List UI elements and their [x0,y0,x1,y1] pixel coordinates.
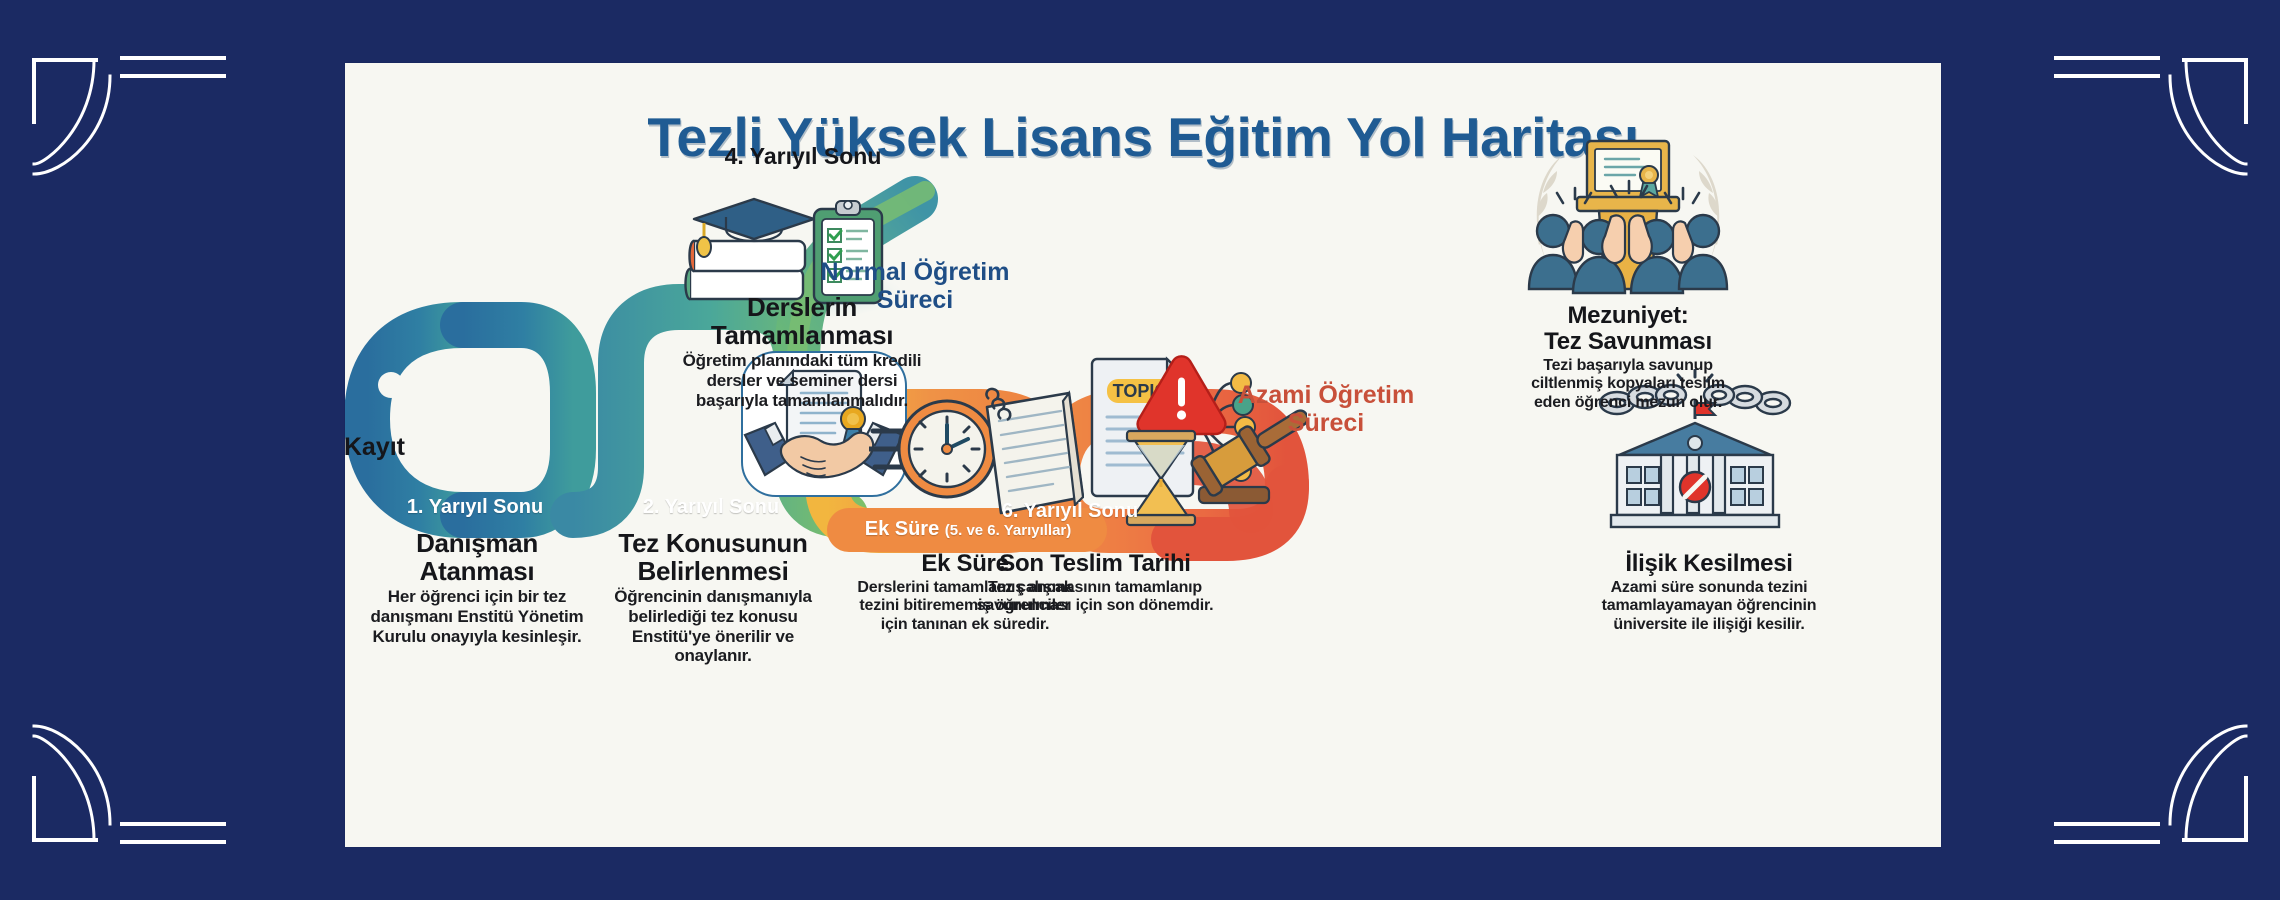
step-heading-line2: Atanması [420,556,535,586]
corner-decoration-top-left [10,14,310,274]
step-heading-ilisik-kesilmesi: İlişik Kesilmesi [1593,551,1825,577]
outcome-heading-line2: Tez Savunması [1544,328,1712,355]
process-group-label-normal-line1: Normal Öğretim [785,258,1045,286]
step-block-danisman-atanmasi: Danışman Atanması Her öğrenci için bir t… [361,529,593,646]
step-heading-line2: Tamamlanması [711,320,893,350]
step-description-danisman-atanmasi: Her öğrenci için bir tez danışmanı Ensti… [361,587,593,646]
step-heading-danisman-atanmasi: Danışman Atanması [361,529,593,585]
semester-badge-4: 4. Yarıyıl Sonu [693,143,913,170]
outcome-heading: Mezuniyet: Tez Savunması [1513,303,1743,355]
step-description-son-teslim-tarihi: Tez çalışmasının tamamlanıp savunulması … [965,579,1225,616]
step-heading-line1: Danışman [416,528,538,558]
infographic-card: Tezli Yüksek Lisans Eğitim Yol Haritası [345,63,1941,847]
step-heading-line1: Derslerin [747,292,857,322]
corner-decoration-bottom-left [10,626,310,886]
step-block-son-teslim-tarihi: Son Teslim Tarihi Tez çalışmasının tamam… [965,551,1225,616]
start-label-kayit: Kayıt [265,433,405,462]
step-block-tez-konusunun-belirlenmesi: Tez Konusunun Belirlenmesi Öğrencinin da… [595,529,831,666]
corner-decoration-top-right [1970,14,2270,274]
step-heading-derslerin-tamamlanmasi: Derslerin Tamamlanması [675,293,929,349]
semester-badge-6: 6. Yarıyıl Sonu [955,500,1185,523]
step-block-ilisik-kesilmesi: İlişik Kesilmesi Azami süre sonunda tezi… [1593,551,1825,635]
semester-badge-1: 1. Yarıyıl Sonu [361,496,589,519]
step-heading-son-teslim-tarihi: Son Teslim Tarihi [965,551,1225,577]
step-block-derslerin-tamamlanmasi: Derslerin Tamamlanması Öğretim planındak… [675,293,929,410]
step-heading-line2: Belirlenmesi [637,556,788,586]
outcome-description: Tezi başarıyla savunup ciltlenmiş kopyal… [1513,357,1743,413]
graduation-podium-applause-icon [1513,131,1743,321]
outcome-heading-line1: Mezuniyet: [1567,302,1688,329]
process-group-label-azami-line2: Süreci [1201,409,1451,437]
corner-decoration-bottom-right [1970,626,2270,886]
process-group-label-azami: Azami Öğretim Süreci [1201,381,1451,437]
process-group-label-azami-line1: Azami Öğretim [1201,381,1451,409]
step-heading-line1: Tez Konusunun [618,528,807,558]
step-description-tez-konusunun-belirlenmesi: Öğrencinin danışmanıyla belirlediği tez … [595,587,831,666]
semester-badge-ek-sure-main: Ek Süre [865,518,939,540]
step-heading-tez-konusunun-belirlenmesi: Tez Konusunun Belirlenmesi [595,529,831,585]
step-description-ilisik-kesilmesi: Azami süre sonunda tezini tamamlayamayan… [1593,579,1825,635]
semester-badge-ek-sure-extra: (5. ve 6. Yarıyıllar) [945,522,1071,539]
semester-badge-2: 2. Yarıyıl Sonu [601,496,821,519]
outcome-block-mezuniyet: Mezuniyet: Tez Savunması Tezi başarıyla … [1513,303,1743,412]
step-description-derslerin-tamamlanmasi: Öğretim planındaki tüm kredili dersler v… [675,351,929,410]
